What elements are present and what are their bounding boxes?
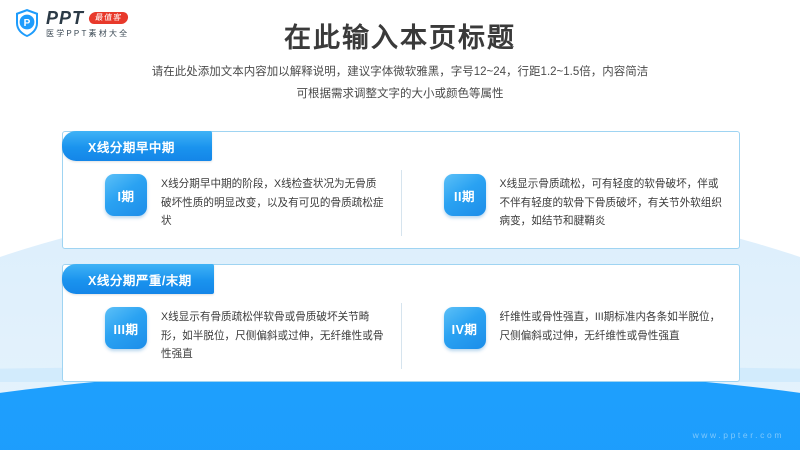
page-subtitle: 请在此处添加文本内容加以解释说明，建议字体微软雅黑，字号12~24，行距1.2~… — [100, 62, 700, 106]
section-tab-severe[interactable]: X线分期严重/末期 — [62, 264, 214, 294]
stage-card-early: X线分期早中期 I期 X线分期早中期的阶段，X线检查状况为无骨质破坏性质的明显改… — [62, 131, 740, 249]
page-subtitle-line-1: 请在此处添加文本内容加以解释说明，建议字体微软雅黑，字号12~24，行距1.2~… — [100, 62, 700, 84]
stage-badge-3: III期 — [105, 307, 147, 349]
stage-text-4: 纤维性或骨性强直，III期标准内各条如半脱位，尺侧偏斜或过伸，无纤维性或骨性强直 — [500, 307, 724, 345]
stage-card-severe: X线分期严重/末期 III期 X线显示有骨质疏松伴软骨或骨质破坏关节畸形，如半脱… — [62, 264, 740, 382]
stage-item-1: I期 X线分期早中期的阶段，X线检查状况为无骨质破坏性质的明显改变，以及有可见的… — [63, 166, 401, 231]
shield-p-icon: P — [14, 8, 40, 38]
brand-logo[interactable]: P PPT 最值客 医学PPT素材大全 — [14, 8, 129, 38]
logo-brand-text: PPT — [46, 9, 84, 27]
stage-badge-1: I期 — [105, 174, 147, 216]
stage-text-3: X线显示有骨质疏松伴软骨或骨质破坏关节畸形，如半脱位，尺侧偏斜或过伸，无纤维性或… — [161, 307, 385, 364]
stage-item-4: IV期 纤维性或骨性强直，III期标准内各条如半脱位，尺侧偏斜或过伸，无纤维性或… — [402, 299, 740, 349]
stage-text-2: X线显示骨质疏松，可有轻度的软骨破坏，伴或不伴有轻度的软骨下骨质破坏，有关节外软… — [500, 174, 724, 231]
svg-text:P: P — [24, 18, 31, 29]
stage-badge-2: II期 — [444, 174, 486, 216]
stage-row-early: I期 X线分期早中期的阶段，X线检查状况为无骨质破坏性质的明显改变，以及有可见的… — [63, 166, 739, 242]
stage-item-2: II期 X线显示骨质疏松，可有轻度的软骨破坏，伴或不伴有轻度的软骨下骨质破坏，有… — [402, 166, 740, 231]
slide-canvas: P PPT 最值客 医学PPT素材大全 在此输入本页标题 请在此处添加文本内容加… — [0, 0, 800, 450]
page-subtitle-line-2: 可根据需求调整文字的大小或颜色等属性 — [100, 84, 700, 106]
stage-text-1: X线分期早中期的阶段，X线检查状况为无骨质破坏性质的明显改变，以及有可见的骨质疏… — [161, 174, 385, 231]
logo-subtitle: 医学PPT素材大全 — [46, 30, 129, 38]
stage-item-3: III期 X线显示有骨质疏松伴软骨或骨质破坏关节畸形，如半脱位，尺侧偏斜或过伸，… — [63, 299, 401, 364]
stage-row-severe: III期 X线显示有骨质疏松伴软骨或骨质破坏关节畸形，如半脱位，尺侧偏斜或过伸，… — [63, 299, 739, 375]
stage-badge-4: IV期 — [444, 307, 486, 349]
section-tab-early[interactable]: X线分期早中期 — [62, 131, 212, 161]
logo-badge: 最值客 — [88, 12, 129, 24]
footer-watermark: www.ppter.com — [693, 430, 784, 440]
